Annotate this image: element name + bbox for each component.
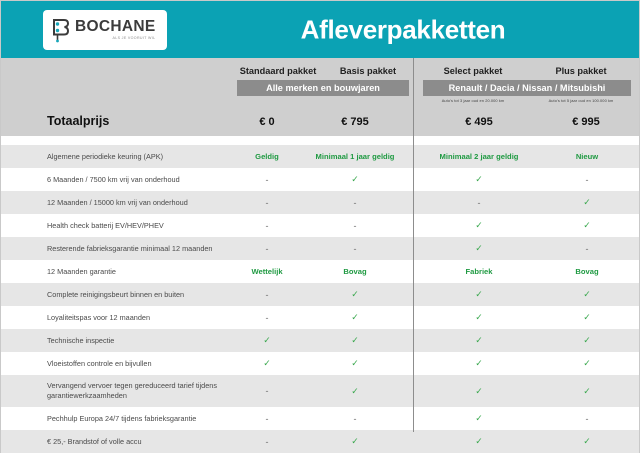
feature-value: Wettelijk [221, 260, 313, 283]
feature-label: Health check batterij EV/HEV/PHEV [1, 221, 233, 231]
total-price-basis: € 795 [310, 116, 400, 128]
check-icon: ✓ [541, 430, 633, 453]
check-icon: ✓ [433, 430, 525, 453]
table-row: Health check batterij EV/HEV/PHEV--✓✓ [1, 214, 639, 237]
feature-label: € 25,- Brandstof of volle accu [1, 437, 233, 447]
feature-label: Vervangend vervoer tegen gereduceerd tar… [1, 381, 233, 401]
table-bottom-padding [1, 453, 639, 475]
feature-label: Pechhulp Europa 24/7 tijdens fabrieksgar… [1, 414, 233, 424]
table-row: 6 Maanden / 7500 km vrij van onderhoud-✓… [1, 168, 639, 191]
package-name-standaard: Standaard pakket [233, 66, 323, 76]
check-icon: ✓ [433, 375, 525, 407]
package-note-select: Auto's tot 3 jaar oud en 20.000 km [419, 98, 527, 103]
total-price-select: € 495 [434, 116, 524, 128]
table-row: Resterende fabrieksgarantie minimaal 12 … [1, 237, 639, 260]
feature-value: Geldig [221, 145, 313, 168]
feature-label: Loyaliteitspas voor 12 maanden [1, 313, 233, 323]
check-icon: ✓ [541, 214, 633, 237]
check-icon: ✓ [541, 329, 633, 352]
feature-label: 12 Maanden / 15000 km vrij van onderhoud [1, 198, 233, 208]
package-group-names: Select pakket Plus pakket [419, 58, 635, 76]
check-icon: ✓ [541, 375, 633, 407]
feature-label: Resterende fabrieksgarantie minimaal 12 … [1, 244, 233, 254]
package-name-plus: Plus pakket [527, 66, 635, 76]
table-row: € 25,- Brandstof of volle accu-✓✓✓ [1, 430, 639, 453]
package-group-names: Standaard pakket Basis pakket [233, 58, 413, 76]
page-title: Afleverpakketten [1, 14, 639, 45]
package-name-select: Select pakket [419, 66, 527, 76]
package-name-basis: Basis pakket [323, 66, 413, 76]
total-price-label: Totaalprijs [47, 114, 109, 128]
check-icon: ✓ [309, 306, 401, 329]
not-included-dash: - [221, 283, 313, 306]
check-icon: ✓ [433, 237, 525, 260]
not-included-dash: - [221, 191, 313, 214]
feature-value: Fabriek [433, 260, 525, 283]
package-note-plus: Auto's tot 5 jaar oud en 100.000 km [527, 98, 635, 103]
check-icon: ✓ [221, 329, 313, 352]
check-icon: ✓ [433, 329, 525, 352]
feature-value: Nieuw [541, 145, 633, 168]
check-icon: ✓ [541, 352, 633, 375]
feature-value: Bovag [541, 260, 633, 283]
afleverpakketten-page: BOCHANE ALS JE VOORUIT WIL Afleverpakket… [0, 0, 640, 453]
feature-label: Complete reinigingsbeurt binnen en buite… [1, 290, 233, 300]
feature-label: 6 Maanden / 7500 km vrij van onderhoud [1, 175, 233, 185]
table-row: Technische inspectie✓✓✓✓ [1, 329, 639, 352]
feature-label: Algemene periodieke keuring (APK) [1, 152, 233, 162]
package-group-scope-bar-left: Alle merken en bouwjaren [237, 80, 409, 96]
check-icon: ✓ [309, 283, 401, 306]
check-icon: ✓ [433, 283, 525, 306]
check-icon: ✓ [309, 375, 401, 407]
not-included-dash: - [221, 168, 313, 191]
total-price-plus: € 995 [541, 116, 631, 128]
table-row: Loyaliteitspas voor 12 maanden-✓✓✓ [1, 306, 639, 329]
not-included-dash: - [221, 375, 313, 407]
not-included-dash: - [309, 214, 401, 237]
feature-value: Minimaal 1 jaar geldig [309, 145, 401, 168]
check-icon: ✓ [433, 306, 525, 329]
not-included-dash: - [221, 430, 313, 453]
page-header: BOCHANE ALS JE VOORUIT WIL Afleverpakket… [1, 1, 639, 58]
package-header-band: Standaard pakket Basis pakket Alle merke… [1, 58, 639, 110]
feature-label: Vloeistoffen controle en bijvullen [1, 359, 233, 369]
check-icon: ✓ [433, 168, 525, 191]
check-icon: ✓ [309, 329, 401, 352]
check-icon: ✓ [541, 191, 633, 214]
feature-label: 12 Maanden garantie [1, 267, 233, 277]
not-included-dash: - [221, 214, 313, 237]
check-icon: ✓ [433, 407, 525, 430]
check-icon: ✓ [433, 352, 525, 375]
total-price-row: Totaalprijs € 0 € 795 € 495 € 995 [1, 110, 639, 136]
not-included-dash: - [221, 306, 313, 329]
not-included-dash: - [541, 168, 633, 191]
package-group-notes-right: Auto's tot 3 jaar oud en 20.000 km Auto'… [419, 98, 635, 103]
not-included-dash: - [541, 407, 633, 430]
not-included-dash: - [309, 237, 401, 260]
check-icon: ✓ [221, 352, 313, 375]
check-icon: ✓ [309, 430, 401, 453]
package-group-renault-brands: Select pakket Plus pakket Renault / Daci… [419, 58, 635, 110]
total-price-standaard: € 0 [222, 116, 312, 128]
table-row: 12 Maanden / 15000 km vrij van onderhoud… [1, 191, 639, 214]
feature-comparison-table: Algemene periodieke keuring (APK)GeldigM… [1, 145, 639, 453]
table-row: Pechhulp Europa 24/7 tijdens fabrieksgar… [1, 407, 639, 430]
package-group-all-brands: Standaard pakket Basis pakket Alle merke… [233, 58, 413, 110]
table-row: 12 Maanden garantieWettelijkBovagFabriek… [1, 260, 639, 283]
check-icon: ✓ [541, 283, 633, 306]
feature-value: Bovag [309, 260, 401, 283]
table-row: Algemene periodieke keuring (APK)GeldigM… [1, 145, 639, 168]
band-spacer [1, 136, 639, 145]
package-group-divider [413, 58, 414, 432]
not-included-dash: - [221, 407, 313, 430]
check-icon: ✓ [433, 214, 525, 237]
not-included-dash: - [221, 237, 313, 260]
check-icon: ✓ [309, 352, 401, 375]
feature-label: Technische inspectie [1, 336, 233, 346]
not-included-dash: - [541, 237, 633, 260]
table-row: Vloeistoffen controle en bijvullen✓✓✓✓ [1, 352, 639, 375]
feature-value: Minimaal 2 jaar geldig [433, 145, 525, 168]
package-group-scope-bar-right: Renault / Dacia / Nissan / Mitsubishi [423, 80, 631, 96]
check-icon: ✓ [309, 168, 401, 191]
not-included-dash: - [309, 407, 401, 430]
check-icon: ✓ [541, 306, 633, 329]
not-included-dash: - [433, 191, 525, 214]
table-row: Vervangend vervoer tegen gereduceerd tar… [1, 375, 639, 407]
not-included-dash: - [309, 191, 401, 214]
table-row: Complete reinigingsbeurt binnen en buite… [1, 283, 639, 306]
